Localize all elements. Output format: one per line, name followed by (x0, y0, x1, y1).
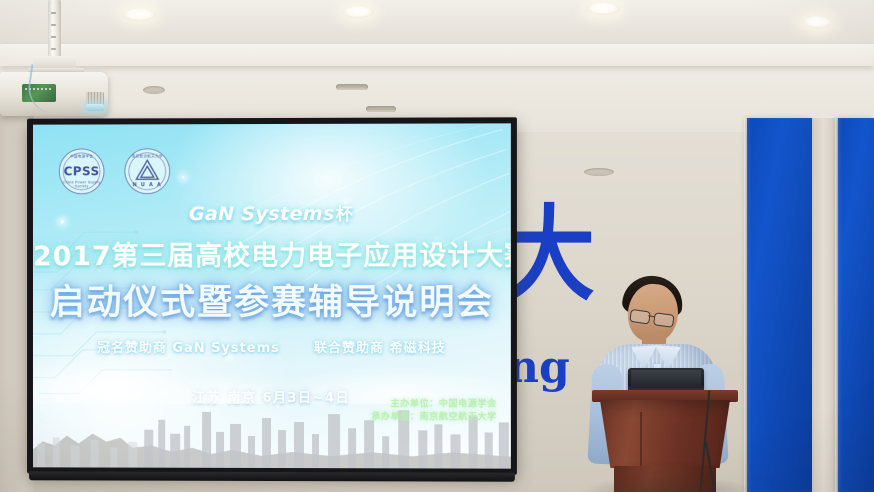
slide-host: 承办单位：南京航空航天大学 (371, 411, 496, 424)
podium-body (600, 400, 730, 468)
panel-edge-highlight (744, 118, 747, 492)
slide-organizer: 主办单位：中国电源学会 (371, 398, 496, 411)
cpss-logo: 中国电源学会 CPSS China Power Supply Society (59, 148, 105, 194)
nuaa-logo-year: 1952 (125, 176, 169, 180)
ceiling-vent (143, 86, 165, 94)
slide-clouds (33, 284, 511, 404)
ceiling-air-slit (366, 106, 396, 112)
presentation-slide: 中国电源学会 CPSS China Power Supply Society 南… (33, 123, 511, 468)
ceiling-downlight (586, 2, 620, 15)
cpss-logo-arc-top: 中国电源学会 (60, 154, 104, 159)
projector-lens (86, 104, 104, 111)
panel-edge-highlight (835, 118, 838, 492)
glasses-lens-right (653, 312, 675, 328)
cpss-logo-acronym: CPSS (64, 164, 100, 178)
podium-floor-shadow (580, 476, 760, 492)
slide-sponsor-name: GaN Systems (189, 203, 335, 225)
slide-sparkle (182, 176, 184, 178)
slide-organizer-block: 主办单位：中国电源学会 承办单位：南京航空航天大学 (371, 398, 496, 424)
blue-wall-panel (747, 118, 812, 492)
cpss-logo-arc-bottom: China Power Supply Society (60, 180, 104, 188)
slide-title-line1: 2017第三届高校电力电子应用设计大赛 (33, 234, 511, 273)
slide-sponsor-cup-line: GaN Systems杯 (33, 200, 511, 226)
ceiling-downlight (802, 16, 832, 28)
nuaa-logo: 南京航空航天大学 1952 N U A A (124, 148, 170, 194)
ceiling-downlight (122, 8, 156, 21)
laptop-icon (628, 368, 704, 392)
nuaa-logo-acronym: N U A A (125, 182, 169, 188)
blue-wall-panel (838, 118, 874, 492)
ceiling-downlight (342, 6, 374, 18)
ceiling-air-slit (336, 84, 368, 90)
slide-cup-glyph: 杯 (336, 205, 353, 225)
projection-screen: 中国电源学会 CPSS China Power Supply Society 南… (27, 117, 517, 474)
ceiling-soffit-edge (0, 44, 874, 66)
projector-mount-pole (48, 0, 61, 60)
conference-room-scene: 大 ng (0, 0, 874, 492)
ceiling-vent (584, 168, 614, 176)
